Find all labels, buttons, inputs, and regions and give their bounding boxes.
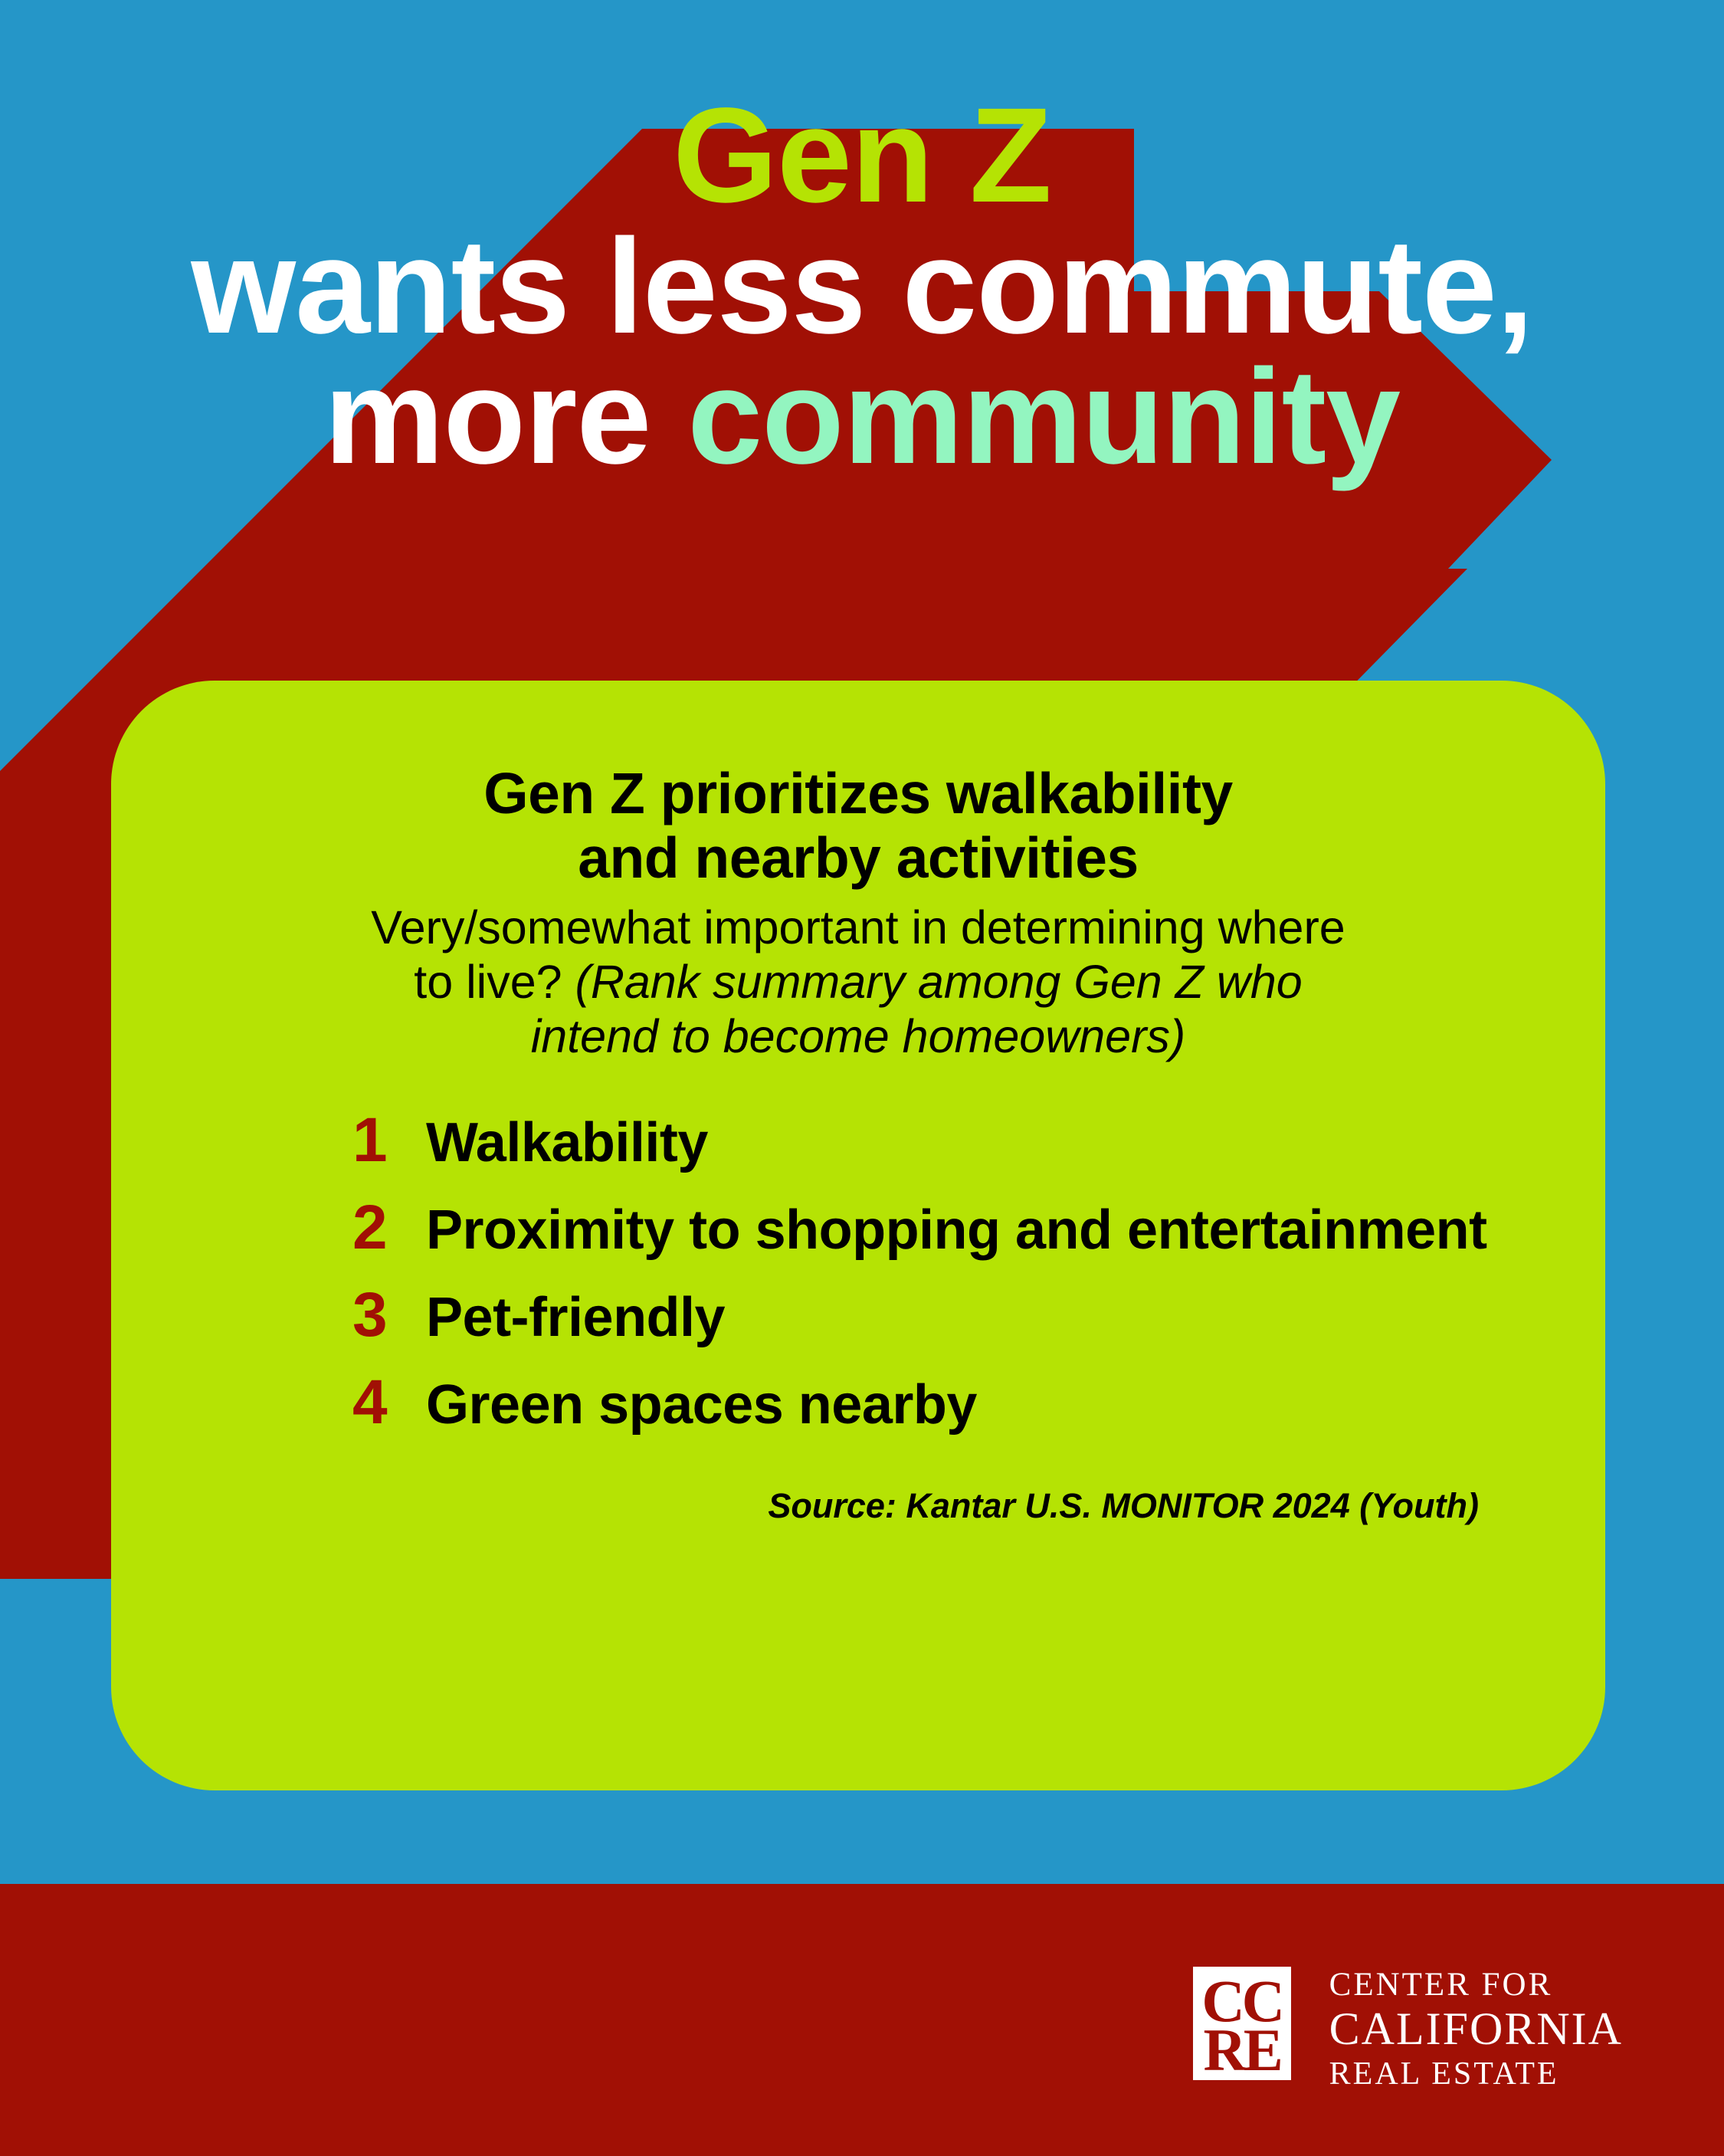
list-item: 1 Walkability bbox=[111, 1109, 1605, 1175]
rank-label: Walkability bbox=[426, 1115, 708, 1170]
rank-number: 3 bbox=[352, 1284, 426, 1347]
list-item: 2 Proximity to shopping and entertainmen… bbox=[111, 1196, 1605, 1262]
rank-number: 4 bbox=[352, 1371, 426, 1434]
card-subtitle: Very/somewhat important in determining w… bbox=[111, 890, 1605, 1063]
rank-number: 1 bbox=[352, 1109, 426, 1172]
wordmark-line-1: CENTER FOR bbox=[1329, 1968, 1623, 2001]
wordmark-line-3: REAL ESTATE bbox=[1329, 2058, 1623, 2090]
card-subtitle-line-1: Very/somewhat important in determining w… bbox=[230, 901, 1486, 955]
card-title-line-2: and nearby activities bbox=[241, 825, 1475, 890]
headline: Gen Z wants less commute, more community bbox=[0, 90, 1724, 483]
ccre-logo: CC RE CENTER FOR CALIFORNIA REAL ESTATE bbox=[1193, 1967, 1623, 2090]
card-title-line-1: Gen Z prioritizes walkability bbox=[241, 761, 1475, 825]
list-item: 4 Green spaces nearby bbox=[111, 1371, 1605, 1437]
headline-community: community bbox=[687, 342, 1400, 492]
monogram-re: RE bbox=[1193, 2020, 1291, 2080]
card-title: Gen Z prioritizes walkability and nearby… bbox=[111, 681, 1605, 890]
infographic-poster: Gen Z wants less commute, more community… bbox=[0, 0, 1724, 2156]
headline-gen-z: Gen Z bbox=[673, 80, 1051, 231]
headline-more: more bbox=[324, 342, 687, 492]
list-item: 3 Pet-friendly bbox=[111, 1284, 1605, 1350]
ccre-monogram-icon: CC RE bbox=[1193, 1967, 1291, 2080]
ccre-wordmark: CENTER FOR CALIFORNIA REAL ESTATE bbox=[1329, 1967, 1623, 2090]
headline-line-1: Gen Z bbox=[0, 90, 1724, 222]
rank-label: Proximity to shopping and entertainment bbox=[426, 1203, 1487, 1258]
source-attribution: Source: Kantar U.S. MONITOR 2024 (Youth) bbox=[111, 1459, 1605, 1526]
headline-line-2: wants less commute, bbox=[0, 222, 1724, 353]
rank-label: Green spaces nearby bbox=[426, 1377, 977, 1432]
headline-wants-less-commute: wants less commute, bbox=[191, 212, 1532, 362]
rank-label: Pet-friendly bbox=[426, 1290, 725, 1345]
card-subtitle-italic-b: intend to become homeowners) bbox=[230, 1009, 1486, 1064]
card-subtitle-italic-a: (Rank summary among Gen Z who bbox=[575, 956, 1303, 1008]
rank-number: 2 bbox=[352, 1196, 426, 1259]
content-card: Gen Z prioritizes walkability and nearby… bbox=[111, 681, 1605, 1790]
headline-line-3: more community bbox=[0, 352, 1724, 483]
card-subtitle-plain: to live? bbox=[414, 956, 575, 1008]
card-subtitle-line-2: to live? (Rank summary among Gen Z who bbox=[230, 955, 1486, 1009]
wordmark-line-2: CALIFORNIA bbox=[1329, 2006, 1623, 2052]
ranked-priority-list: 1 Walkability 2 Proximity to shopping an… bbox=[111, 1063, 1605, 1437]
